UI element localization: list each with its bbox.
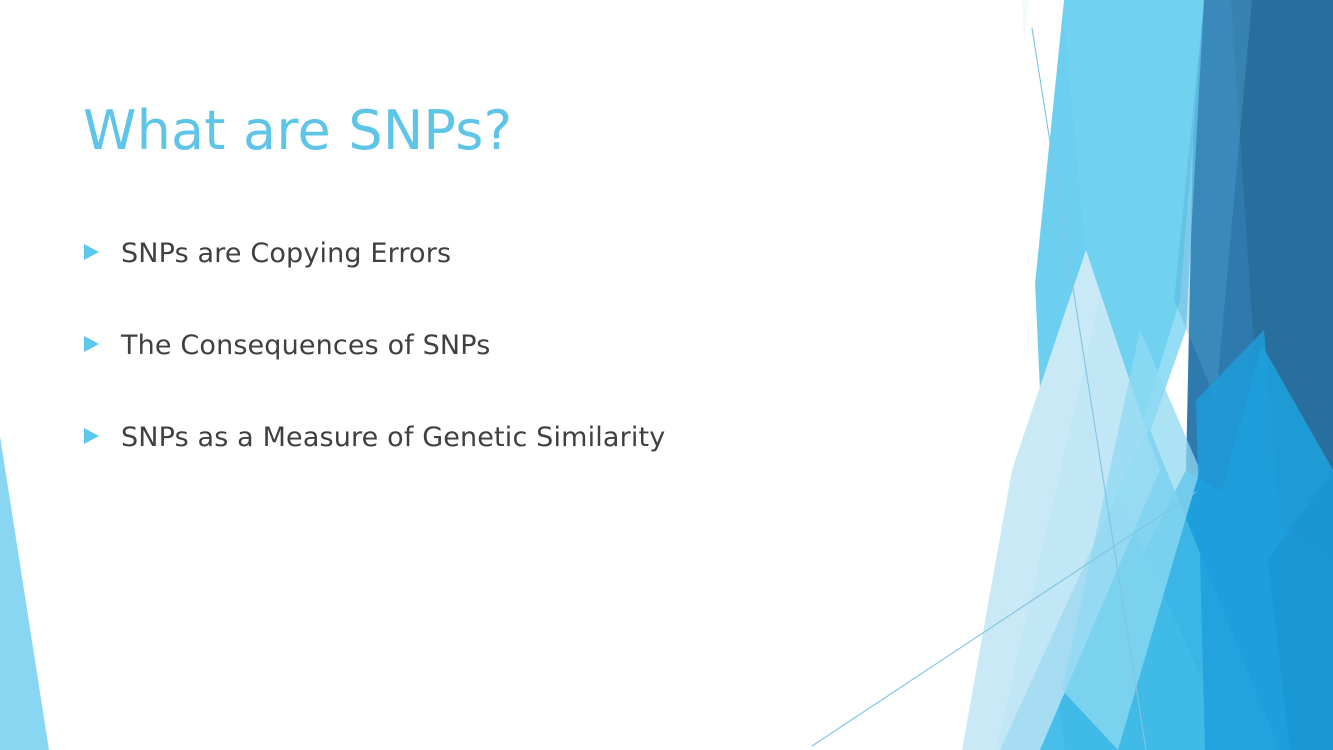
presentation-slide: What are SNPs? SNPs are Copying Errors T… xyxy=(0,0,1333,750)
decor-shape-lighter-sliver-a xyxy=(1062,330,1200,750)
triangle-right-icon xyxy=(83,420,121,445)
list-item-label: SNPs as a Measure of Genetic Similarity xyxy=(121,420,903,456)
decor-shape-pale-sweep xyxy=(962,250,1146,750)
decor-shape-steel-right xyxy=(1186,0,1333,640)
decor-shape-bottom-left-triangle xyxy=(0,436,49,750)
decor-hairline-vertical xyxy=(1032,28,1146,750)
decor-shape-lighter-sliver-c xyxy=(1196,330,1300,750)
list-item-label: SNPs are Copying Errors xyxy=(121,236,903,272)
decor-shape-pale-wedge xyxy=(988,0,1064,640)
decor-shape-light-band-top xyxy=(1022,0,1204,560)
list-item[interactable]: SNPs are Copying Errors xyxy=(83,232,903,324)
bullet-list: SNPs are Copying Errors The Consequences… xyxy=(83,232,903,508)
decor-shape-bright-sliver-top xyxy=(990,0,1046,360)
decor-shape-sky-lower-2 xyxy=(1040,430,1280,750)
decor-shape-mid-lower-right-2 xyxy=(1150,345,1333,750)
decor-shape-pale-sweep-2 xyxy=(996,300,1160,750)
decor-shape-sky-lower xyxy=(975,470,1234,750)
list-item[interactable]: The Consequences of SNPs xyxy=(83,324,903,416)
decor-shape-lighter-sliver-b xyxy=(1174,0,1252,400)
page-title: What are SNPs? xyxy=(83,100,512,162)
triangle-right-icon xyxy=(83,328,121,353)
decor-shape-mid-lower-right xyxy=(1060,470,1333,750)
decor-shape-lighter-sliver-d xyxy=(1268,470,1333,750)
list-item-label: The Consequences of SNPs xyxy=(121,328,903,364)
list-item[interactable]: SNPs as a Measure of Genetic Similarity xyxy=(83,416,903,508)
decor-hairline-diagonal xyxy=(812,492,1196,746)
decor-shape-sky-band-top xyxy=(1062,0,1204,540)
decor-shape-deep-wedge xyxy=(1231,0,1333,560)
triangle-right-icon xyxy=(83,236,121,261)
